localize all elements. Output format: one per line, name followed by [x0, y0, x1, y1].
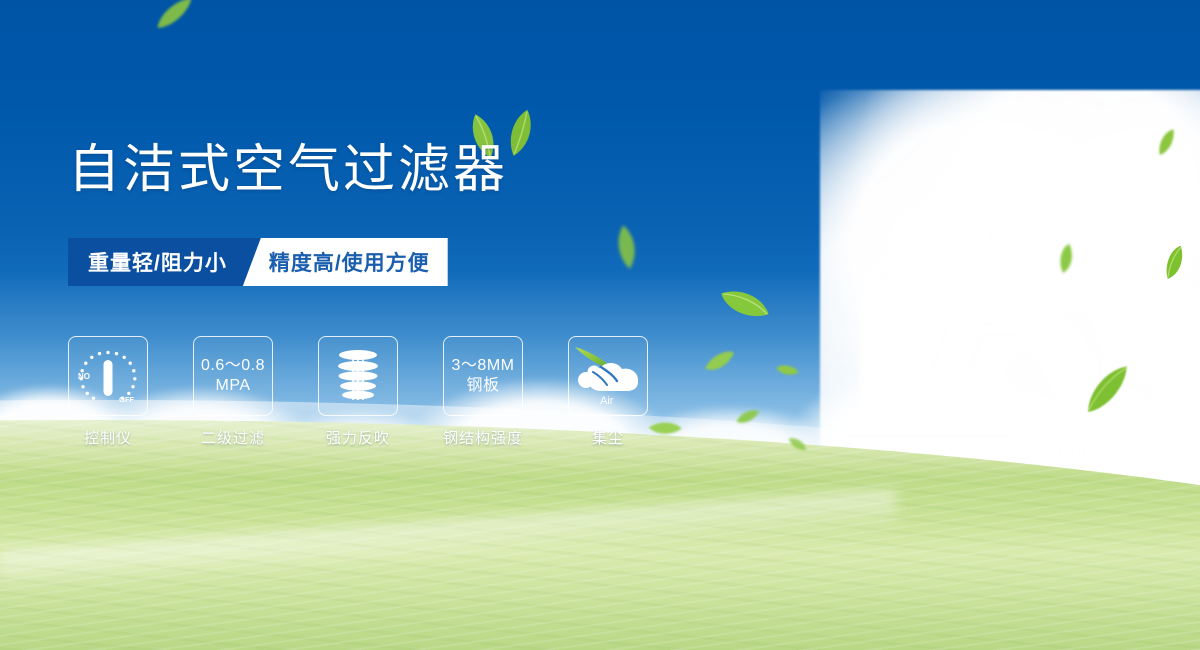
- feature-item[interactable]: Air 集尘: [568, 336, 648, 448]
- product-banner: 自洁式空气过滤器 重量轻/阻力小 精度高/使用方便: [0, 0, 1200, 650]
- feature-label: 强力反吹: [326, 427, 390, 448]
- banner-content: 自洁式空气过滤器 重量轻/阻力小 精度高/使用方便: [0, 0, 1200, 650]
- cloud-air-icon: Air: [573, 345, 643, 407]
- feature-item[interactable]: NO OFF 控制仪: [68, 336, 148, 448]
- gauge-label-no: NO: [78, 372, 90, 381]
- feature-item[interactable]: 0.6～0.8 MPA 二级过滤: [193, 336, 273, 448]
- cloud-air-label: Air: [600, 395, 614, 407]
- feature-label: 集尘: [592, 427, 624, 448]
- feature-list: NO OFF 控制仪 0.6～0.8 MPA 二级过滤: [68, 336, 648, 448]
- feature-label: 二级过滤: [201, 427, 265, 448]
- subtitle-segment-left: 重量轻/阻力小: [68, 238, 261, 286]
- steel-plate-text: 钢板: [466, 376, 499, 396]
- pressure-unit-text: MPA: [216, 376, 251, 396]
- feature-icon-box: [318, 336, 398, 416]
- feature-item[interactable]: 强力反吹: [318, 336, 398, 448]
- gauge-icon: NO OFF: [75, 346, 141, 406]
- feature-item[interactable]: 3～8MM 钢板 钢结构强度: [443, 336, 523, 448]
- subtitle-segment-right: 精度高/使用方便: [243, 238, 448, 286]
- page-title: 自洁式空气过滤器: [68, 142, 508, 199]
- feature-label: 钢结构强度: [443, 427, 523, 448]
- feature-label: 控制仪: [84, 427, 132, 448]
- feature-icon-box: NO OFF: [68, 336, 148, 416]
- steel-thickness-text-icon: 3～8MM: [452, 356, 515, 376]
- coil-spring-icon: [329, 346, 387, 406]
- feature-icon-box: Air: [568, 336, 648, 416]
- subtitle-bar: 重量轻/阻力小 精度高/使用方便: [68, 238, 448, 286]
- feature-icon-box: 3～8MM 钢板: [443, 336, 523, 416]
- gauge-label-off: OFF: [119, 395, 134, 404]
- pressure-text-icon: 0.6～0.8: [201, 356, 265, 376]
- feature-icon-box: 0.6～0.8 MPA: [193, 336, 273, 416]
